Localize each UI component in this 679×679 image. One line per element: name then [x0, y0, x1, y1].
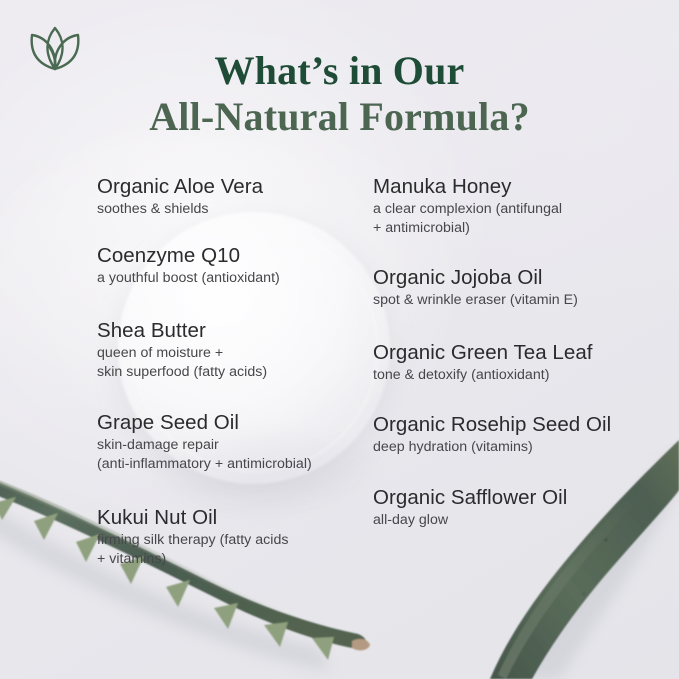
ingredient-name: Organic Green Tea Leaf	[373, 340, 658, 365]
page-title: What’s in Our All-Natural Formula?	[0, 48, 679, 138]
ingredient-description: firming silk therapy (fatty acids + vita…	[97, 531, 382, 570]
aloe-leaf-right	[490, 440, 679, 679]
ingredient-name: Grape Seed Oil	[97, 410, 382, 435]
ingredient-name: Coenzyme Q10	[97, 243, 382, 268]
ingredient-name: Organic Rosehip Seed Oil	[373, 412, 658, 437]
ingredient-item: Coenzyme Q10 a youthful boost (antioxida…	[97, 243, 382, 288]
ingredient-description: tone & detoxify (antioxidant)	[373, 366, 658, 385]
ingredient-description: a youthful boost (antioxidant)	[97, 269, 382, 288]
ingredient-name: Kukui Nut Oil	[97, 505, 382, 530]
ingredient-description: skin-damage repair (anti-inflammatory + …	[97, 436, 382, 475]
ingredient-description: soothes & shields	[97, 200, 382, 219]
ingredient-name: Organic Aloe Vera	[97, 174, 382, 199]
ingredient-description: deep hydration (vitamins)	[373, 438, 658, 457]
ingredient-name: Organic Safflower Oil	[373, 485, 658, 510]
ingredient-description: all-day glow	[373, 511, 658, 530]
ingredient-item: Organic Aloe Vera soothes & shields	[97, 174, 382, 219]
ingredient-item: Grape Seed Oil skin-damage repair (anti-…	[97, 410, 382, 475]
ingredient-item: Organic Rosehip Seed Oil deep hydration …	[373, 412, 658, 457]
ingredient-item: Organic Green Tea Leaf tone & detoxify (…	[373, 340, 658, 385]
ingredient-item: Manuka Honey a clear complexion (antifun…	[373, 174, 658, 239]
page-title-line-1: What’s in Our	[0, 48, 679, 93]
ingredient-description: queen of moisture + skin superfood (fatt…	[97, 344, 382, 383]
ingredient-name: Organic Jojoba Oil	[373, 265, 658, 290]
ingredient-item: Kukui Nut Oil firming silk therapy (fatt…	[97, 505, 382, 570]
ingredient-name: Shea Butter	[97, 318, 382, 343]
ingredient-description: spot & wrinkle eraser (vitamin E)	[373, 291, 658, 310]
page-title-line-2: All-Natural Formula?	[0, 94, 679, 139]
ingredient-item: Organic Safflower Oil all-day glow	[373, 485, 658, 530]
ingredients-poster: What’s in Our All-Natural Formula? Organ…	[0, 0, 679, 679]
ingredient-item: Shea Butter queen of moisture + skin sup…	[97, 318, 382, 383]
ingredient-name: Manuka Honey	[373, 174, 658, 199]
ingredient-item: Organic Jojoba Oil spot & wrinkle eraser…	[373, 265, 658, 310]
ingredient-description: a clear complexion (antifungal + antimic…	[373, 200, 658, 239]
